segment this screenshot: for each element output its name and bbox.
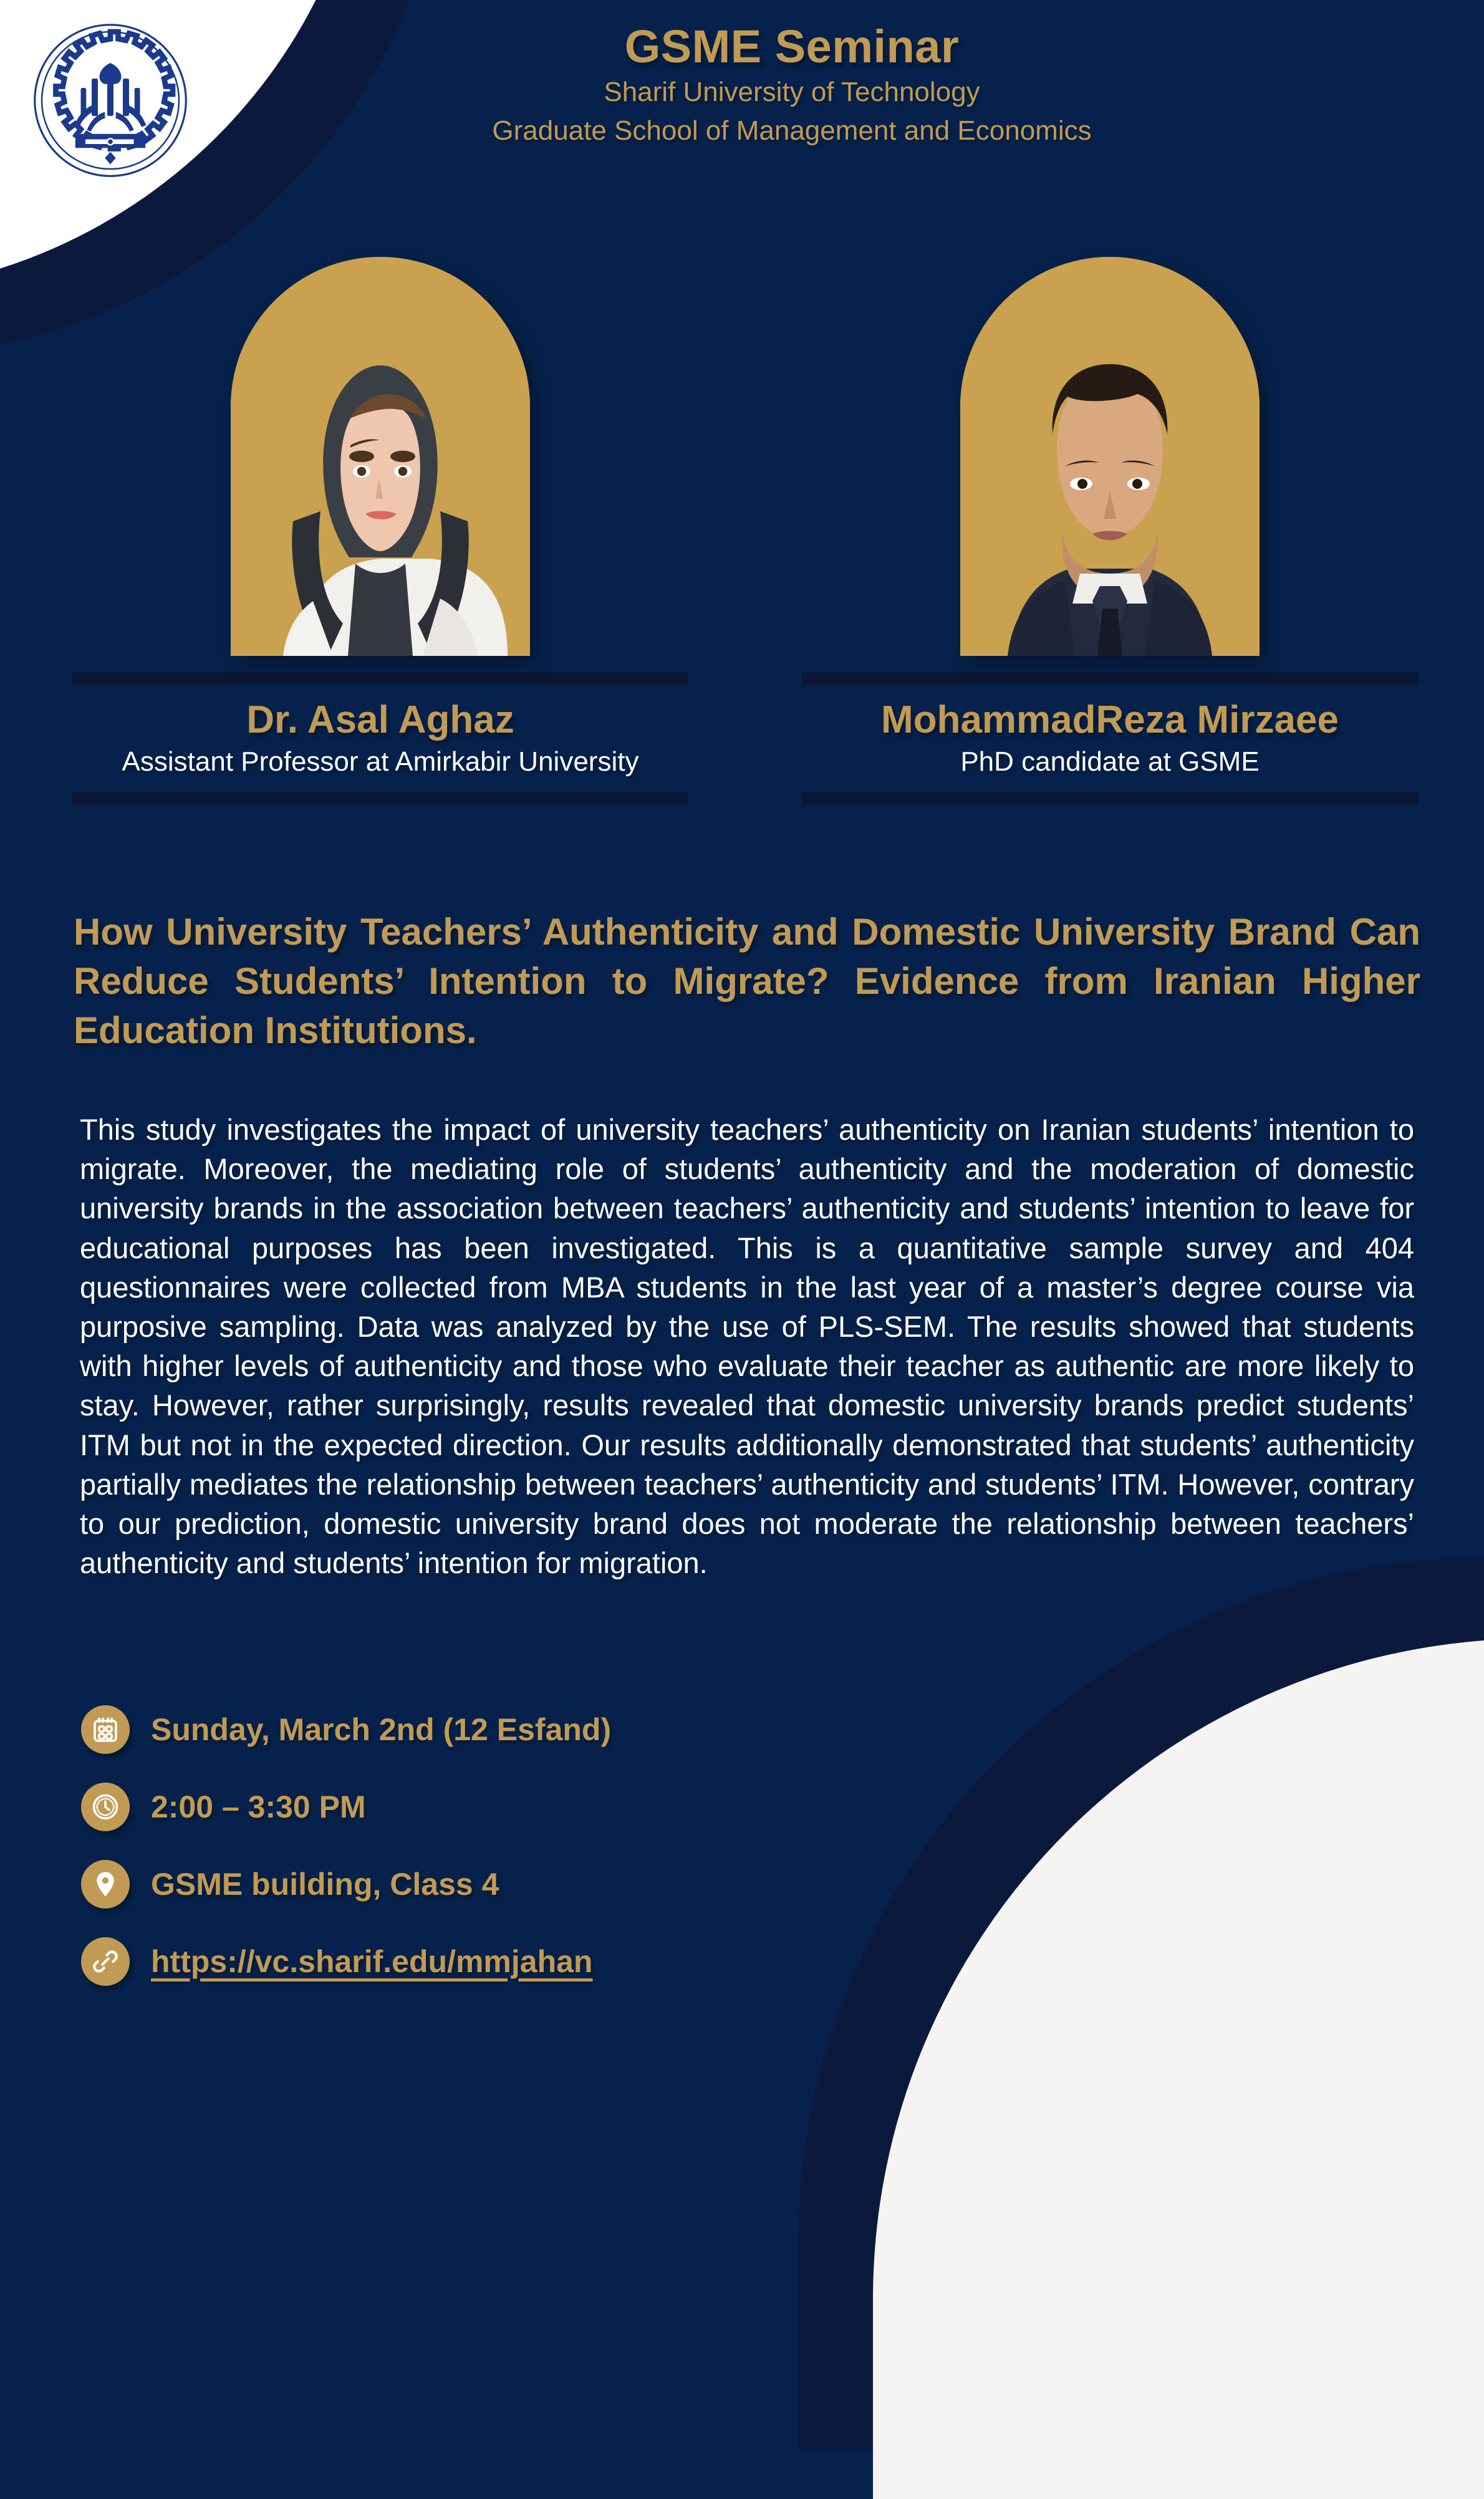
school-name: Graduate School of Management and Econom… xyxy=(399,113,1185,148)
poster-header: GSME Seminar Sharif University of Techno… xyxy=(0,0,1484,187)
detail-text-link[interactable]: https://vc.sharif.edu/mmjahan xyxy=(151,1945,592,1979)
speaker-photo-mohammadreza-mirzaee xyxy=(960,257,1260,656)
location-pin-icon xyxy=(81,1860,130,1909)
detail-text-time: 2:00 – 3:30 PM xyxy=(151,1790,366,1824)
speaker-role: Assistant Professor at Amirkabir Univers… xyxy=(37,746,723,792)
clock-icon xyxy=(81,1783,130,1831)
page-title: GSME Seminar xyxy=(399,22,1185,71)
sharif-university-logo xyxy=(32,14,188,187)
speaker-photo-asal-aghaz xyxy=(231,257,530,656)
talk-title: How University Teachers’ Authenticity an… xyxy=(74,907,1420,1056)
header-text-block: GSME Seminar Sharif University of Techno… xyxy=(399,22,1185,148)
talk-abstract: This study investigates the impact of un… xyxy=(80,1110,1414,1582)
detail-text-date: Sunday, March 2nd (12 Esfand) xyxy=(151,1713,611,1747)
university-name: Sharif University of Technology xyxy=(399,75,1185,110)
speaker-divider-bottom xyxy=(802,792,1418,805)
detail-row-location: GSME building, Class 4 xyxy=(81,1860,1016,1909)
detail-text-location: GSME building, Class 4 xyxy=(151,1867,499,1902)
detail-row-date: Sunday, March 2nd (12 Esfand) xyxy=(81,1705,1016,1754)
speaker-card-1: Dr. Asal Aghaz Assistant Professor at Am… xyxy=(37,257,723,805)
event-details: Sunday, March 2nd (12 Esfand) 2:00 – 3:3… xyxy=(81,1705,1016,2015)
speaker-card-2: MohammadReza Mirzaee PhD candidate at GS… xyxy=(767,257,1453,805)
detail-row-link[interactable]: https://vc.sharif.edu/mmjahan xyxy=(81,1937,1016,1986)
speaker-name: MohammadReza Mirzaee xyxy=(767,685,1453,746)
speaker-divider-top xyxy=(802,672,1418,685)
speaker-divider-bottom xyxy=(72,792,688,805)
calendar-icon xyxy=(81,1705,130,1754)
detail-row-time: 2:00 – 3:30 PM xyxy=(81,1783,1016,1831)
speaker-name: Dr. Asal Aghaz xyxy=(37,685,723,746)
link-icon xyxy=(81,1937,130,1986)
speaker-divider-top xyxy=(72,672,688,685)
speaker-role: PhD candidate at GSME xyxy=(767,746,1453,792)
speakers-section: Dr. Asal Aghaz Assistant Professor at Am… xyxy=(0,257,1484,818)
